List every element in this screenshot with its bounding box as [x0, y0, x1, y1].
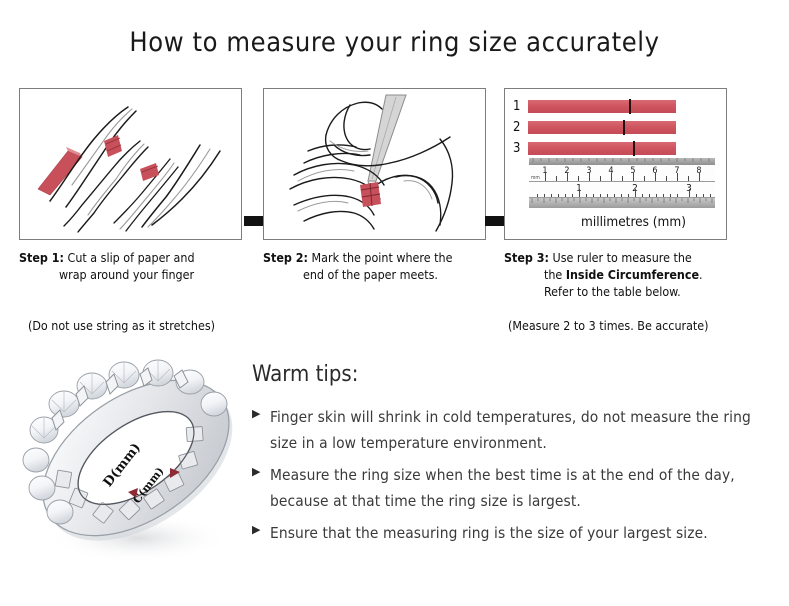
inside-circumference-emphasis: Inside Circumference: [566, 267, 699, 282]
step-3-column: 1 2 3: [504, 88, 729, 300]
step-2-line1: Mark the point where the: [312, 250, 453, 265]
ruler-bottom-edge: [529, 198, 715, 208]
strip-row: 1: [513, 97, 719, 115]
tip-text: Measure the ring size when the best time…: [270, 462, 772, 514]
step-2-caption: Step 2: Mark the point where the end of …: [263, 249, 488, 283]
strip-mark: [623, 120, 625, 135]
triangle-bullet-icon: ▶: [252, 520, 270, 535]
tip-item: ▶ Measure the ring size when the best ti…: [252, 462, 772, 514]
step-3-line1: Use ruler to measure the: [553, 250, 692, 265]
triangle-bullet-icon: ▶: [252, 462, 270, 477]
strip-mark: [633, 141, 635, 156]
ruler-illustration: mm 1 2 3 4 5 6 7 8: [529, 158, 715, 210]
step-1-line2: wrap around your finger: [19, 266, 244, 283]
tip-text: Finger skin will shrink in cold temperat…: [270, 404, 772, 456]
step-1-label: Step 1:: [19, 250, 64, 265]
steps-row: Step 1: Cut a slip of paper and wrap aro…: [19, 88, 770, 338]
warm-tips-section: Warm tips: ▶ Finger skin will shrink in …: [252, 362, 772, 552]
tip-item: ▶ Ensure that the measuring ring is the …: [252, 520, 772, 546]
step-3-label: Step 3:: [504, 250, 549, 265]
strip-bar: [528, 142, 676, 155]
strip-bar: [528, 121, 676, 134]
tip-item: ▶ Finger skin will shrink in cold temper…: [252, 404, 772, 456]
strip-number: 3: [513, 141, 528, 156]
strip-bar: [528, 100, 676, 113]
step-3-caption: Step 3: Use ruler to measure the the Ins…: [504, 249, 729, 300]
step-1-caption: Step 1: Cut a slip of paper and wrap aro…: [19, 249, 244, 283]
ring-diagram: D(mm) C(mm): [18, 352, 254, 578]
triangle-bullet-icon: ▶: [252, 404, 270, 419]
ruler-top-edge: [529, 158, 715, 165]
step-1-line1: Cut a slip of paper and: [68, 250, 195, 265]
step-3-line3: Refer to the table below.: [504, 283, 729, 300]
step-2-label: Step 2:: [263, 250, 308, 265]
step-1-note: (Do not use string as it stretches): [28, 318, 215, 333]
strip-number: 1: [513, 99, 528, 114]
page-title: How to measure your ring size accurately: [0, 27, 789, 58]
strip-number: 2: [513, 120, 528, 135]
step-1-panel: [19, 88, 242, 240]
strip-row: 3: [513, 139, 719, 157]
step-3-panel: 1 2 3: [504, 88, 727, 240]
warm-tips-heading: Warm tips:: [252, 362, 772, 387]
step-2-line2: end of the paper meets.: [263, 266, 488, 283]
paper-strips-group: 1 2 3: [513, 97, 719, 160]
ruler-centimetre-scale: mm 1 2 3 4 5 6 7 8: [529, 165, 715, 182]
ruler-caption: millimetres (mm): [505, 214, 726, 230]
strip-mark: [629, 99, 631, 114]
hand-marking-paper-with-pencil-illustration: [264, 89, 485, 239]
step-3-line2: the Inside Circumference.: [504, 266, 729, 283]
eternity-ring-illustration: D(mm) C(mm): [18, 352, 254, 578]
hand-with-paper-strip-illustration: [20, 89, 241, 239]
tip-text: Ensure that the measuring ring is the si…: [270, 520, 708, 546]
ruler-inch-scale: 1 2 3: [529, 182, 715, 198]
step-2-column: Step 2: Mark the point where the end of …: [263, 88, 488, 283]
step-1-column: Step 1: Cut a slip of paper and wrap aro…: [19, 88, 244, 283]
ruler-unit-label: mm: [531, 175, 540, 181]
strip-row: 2: [513, 118, 719, 136]
step-3-note: (Measure 2 to 3 times. Be accurate): [508, 318, 709, 333]
step-2-panel: [263, 88, 486, 240]
